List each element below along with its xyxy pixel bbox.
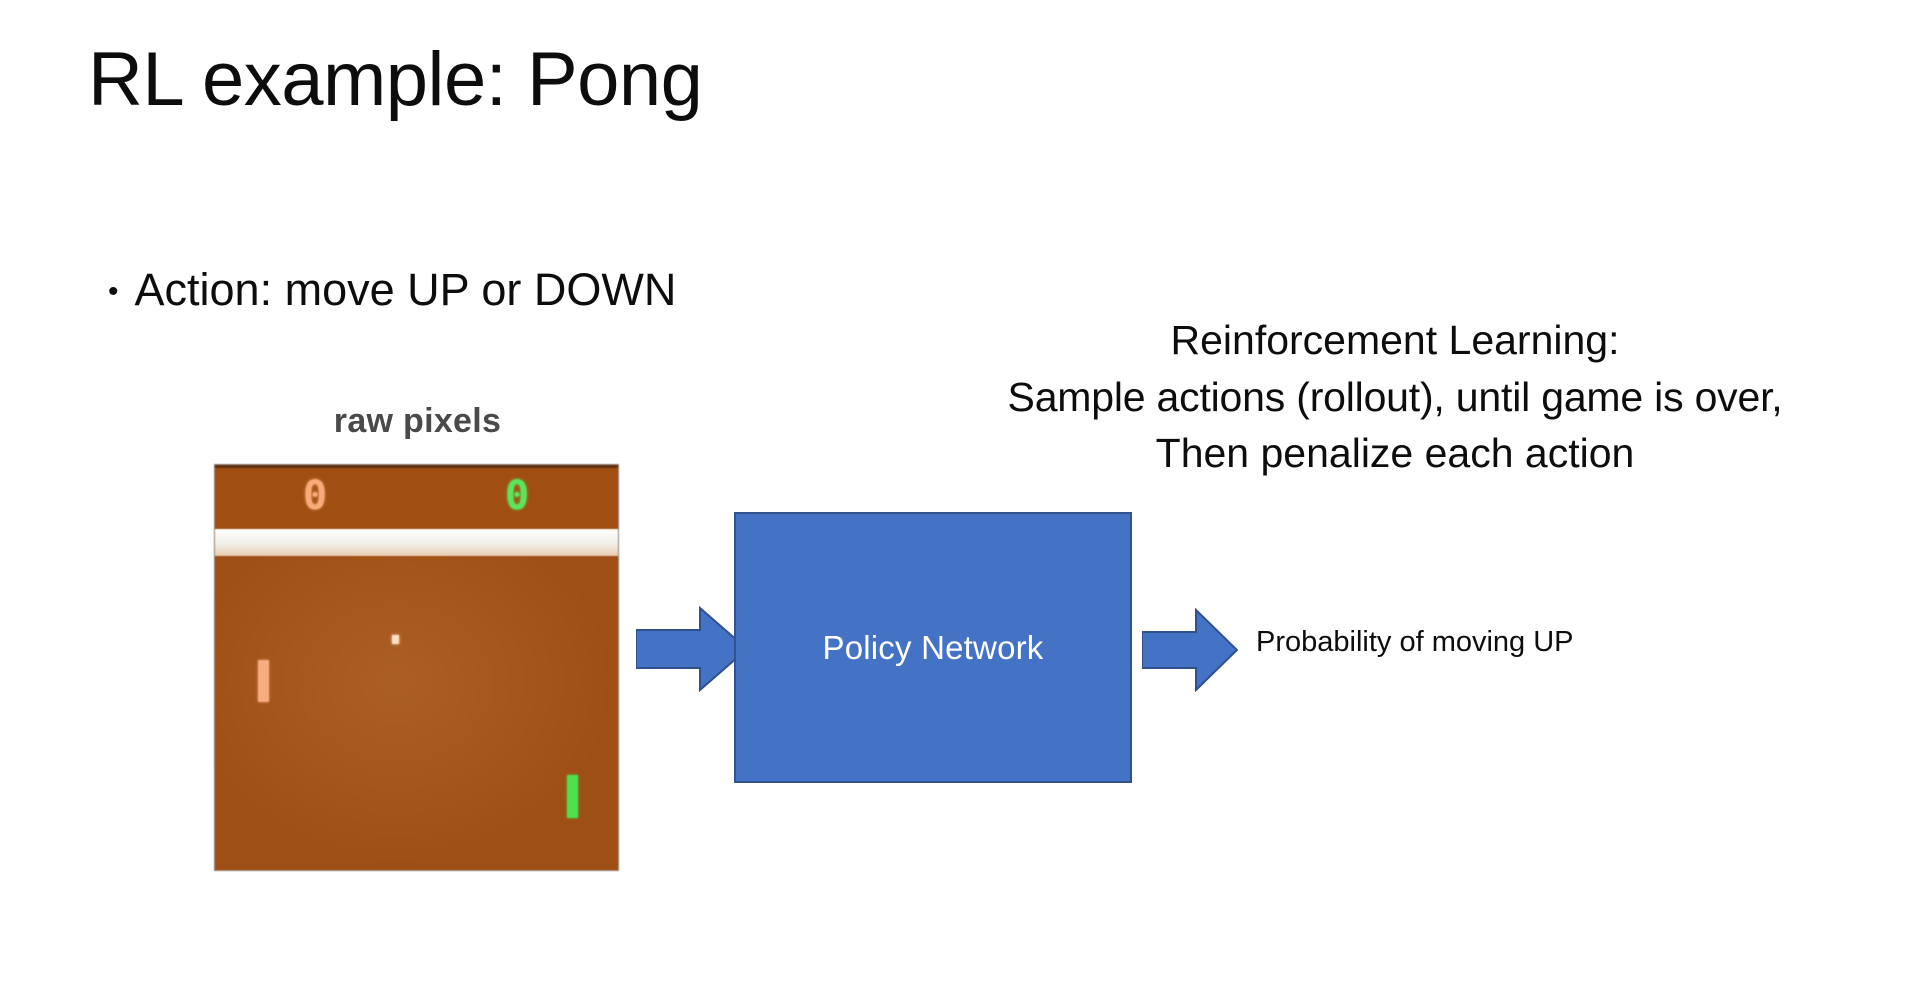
pong-play-field	[215, 557, 618, 870]
policy-network-label: Policy Network	[822, 629, 1043, 667]
output-probability-label: Probability of moving UP	[1256, 626, 1574, 659]
bullet-item-label: Action: move UP or DOWN	[135, 265, 677, 315]
rl-annotation-line-1: Reinforcement Learning:	[880, 312, 1910, 369]
slide-canvas: RL example: Pong • Action: move UP or DO…	[0, 0, 1920, 986]
input-arrow-icon	[636, 606, 748, 692]
pong-paddle-left	[258, 660, 269, 702]
output-arrow-icon	[1142, 608, 1238, 692]
pong-ball	[392, 635, 399, 644]
policy-network-box[interactable]: Policy Network	[734, 512, 1132, 783]
pong-paddle-right	[567, 775, 578, 818]
raw-pixels-caption: raw pixels	[215, 402, 620, 441]
rl-annotation-block: Reinforcement Learning: Sample actions (…	[880, 312, 1910, 482]
rl-annotation-line-3: Then penalize each action	[880, 425, 1910, 482]
pong-score-left: 0	[303, 476, 327, 516]
pong-divider-bar	[215, 529, 618, 556]
rl-annotation-line-2: Sample actions (rollout), until game is …	[880, 369, 1910, 426]
bullet-item: • Action: move UP or DOWN	[108, 265, 676, 315]
bullet-marker-icon: •	[108, 277, 119, 307]
page-title: RL example: Pong	[88, 42, 702, 118]
pong-score-right: 0	[505, 476, 529, 516]
pong-score-band	[215, 465, 618, 532]
pong-game-screenshot: 0 0	[215, 465, 618, 870]
